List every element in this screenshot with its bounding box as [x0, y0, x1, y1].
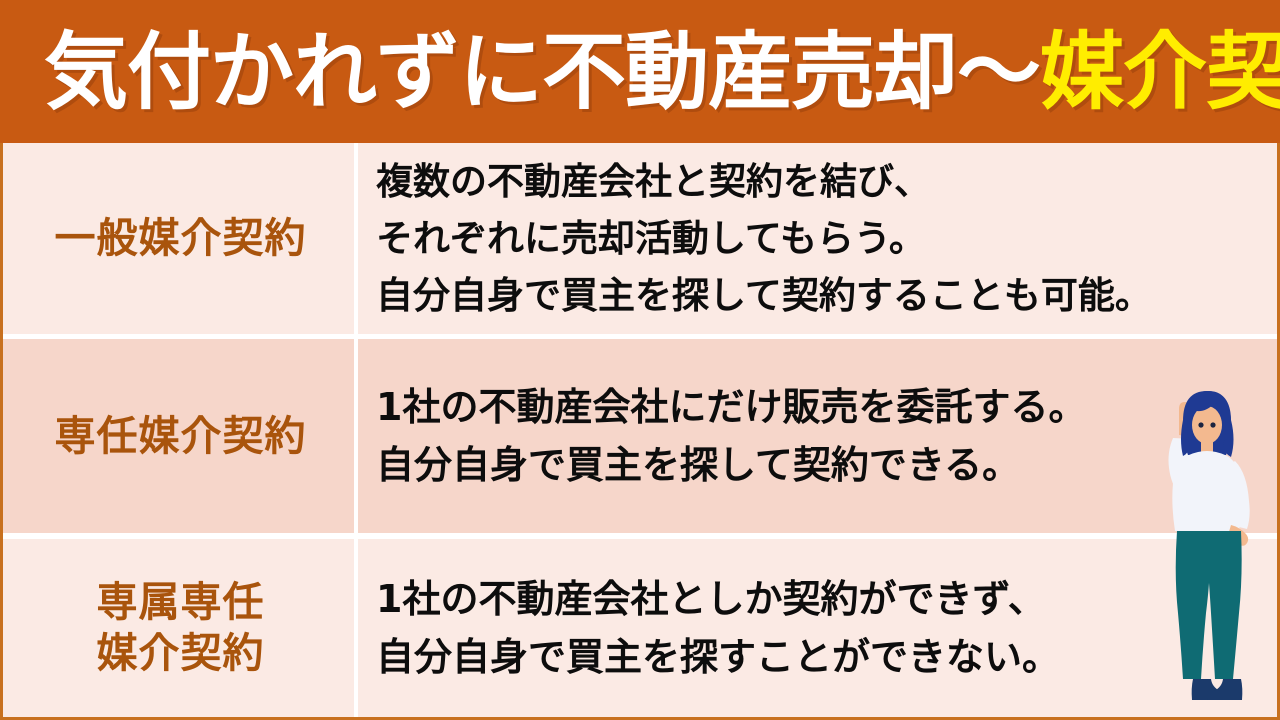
row-label-text: 専任媒介契約 — [55, 411, 307, 462]
row-label-text: 専属専任媒介契約 — [97, 577, 265, 679]
description-line: 自分自身で買主を探して契約できる。 — [376, 436, 1269, 494]
page-title: 気付かれずに不動産売却〜媒介契約 — [44, 19, 1280, 125]
row-description-general: 複数の不動産会社と契約を結び、 それぞれに売却活動してもらう。 自分自身で買主を… — [358, 143, 1277, 334]
row-description-exclusive-right-to-sell: 1社の不動産会社としか契約ができず、 自分自身で買主を探すことができない。 — [358, 539, 1277, 717]
description-line: 自分自身で買主を探すことができない。 — [376, 628, 1269, 686]
table-row: 専任媒介契約 1社の不動産会社にだけ販売を委託する。 自分自身で買主を探して契約… — [3, 339, 1277, 533]
table-row: 専属専任媒介契約 1社の不動産会社としか契約ができず、 自分自身で買主を探すこと… — [3, 539, 1277, 717]
slide-root: 気付かれずに不動産売却〜媒介契約 一般媒介契約 複数の不動産会社と契約を結び、 … — [0, 0, 1280, 720]
description-line: 複数の不動産会社と契約を結び、 — [376, 153, 1269, 210]
contract-types-table: 一般媒介契約 複数の不動産会社と契約を結び、 それぞれに売却活動してもらう。 自… — [0, 143, 1280, 720]
header-banner: 気付かれずに不動産売却〜媒介契約 — [0, 0, 1280, 143]
row-label-general: 一般媒介契約 — [3, 143, 358, 334]
page-title-yellow-part: 媒介契約 — [1040, 23, 1280, 121]
row-label-text-line2: 媒介契約 — [97, 628, 265, 679]
page-title-white-part: 気付かれずに不動産売却〜 — [44, 23, 1040, 121]
row-label-text-line1: 専属専任 — [97, 578, 265, 626]
description-line: それぞれに売却活動してもらう。 — [376, 210, 1269, 267]
description-line: 1社の不動産会社としか契約ができず、 — [376, 570, 1269, 628]
description-line: 1社の不動産会社にだけ販売を委託する。 — [376, 378, 1269, 436]
row-label-exclusive: 専任媒介契約 — [3, 339, 358, 533]
row-label-exclusive-right-to-sell: 専属専任媒介契約 — [3, 539, 358, 717]
row-description-exclusive: 1社の不動産会社にだけ販売を委託する。 自分自身で買主を探して契約できる。 — [358, 339, 1277, 533]
description-line: 自分自身で買主を探して契約することも可能。 — [376, 267, 1269, 324]
row-label-text: 一般媒介契約 — [55, 213, 307, 264]
table-row: 一般媒介契約 複数の不動産会社と契約を結び、 それぞれに売却活動してもらう。 自… — [3, 143, 1277, 334]
